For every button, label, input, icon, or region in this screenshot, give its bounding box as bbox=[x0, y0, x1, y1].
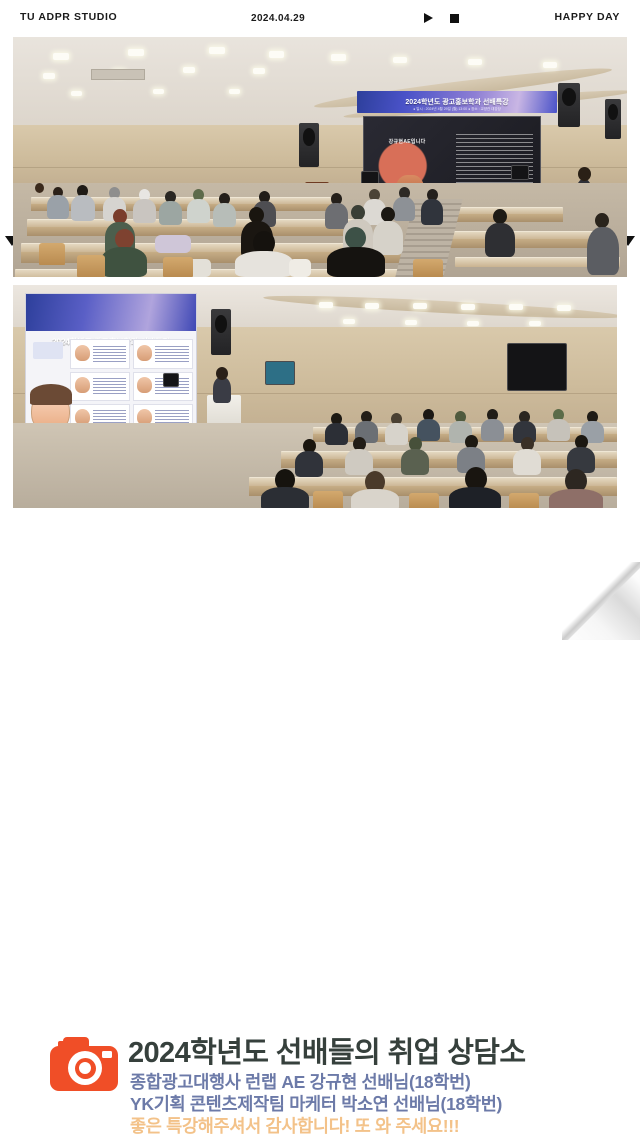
audience-head bbox=[351, 205, 365, 220]
wall-speaker bbox=[211, 309, 231, 355]
audience-head bbox=[381, 207, 395, 222]
wall-monitor bbox=[507, 343, 567, 391]
presenter-head bbox=[216, 367, 228, 380]
slide-header-band bbox=[26, 294, 196, 331]
audience-person bbox=[101, 247, 147, 277]
audience-person bbox=[345, 449, 373, 475]
wall-monitor bbox=[265, 361, 295, 385]
play-icon[interactable] bbox=[424, 13, 433, 23]
audience-person bbox=[327, 247, 385, 277]
ceiling-light bbox=[509, 304, 523, 310]
camera-flash bbox=[102, 1051, 112, 1058]
audience-head bbox=[345, 227, 366, 249]
audience-person bbox=[547, 419, 570, 441]
audience-person bbox=[187, 199, 210, 223]
wall-speaker bbox=[605, 99, 621, 139]
chair bbox=[509, 493, 539, 508]
ceiling-light bbox=[557, 305, 571, 311]
side-monitor bbox=[511, 165, 529, 180]
ceiling-light bbox=[183, 67, 195, 73]
ceiling-light bbox=[71, 91, 82, 96]
audience-person bbox=[213, 203, 236, 227]
ceiling-light bbox=[468, 59, 482, 65]
caption-line-3: 좋은 특강해주셔서 감사합니다! 또 와 주세요!!! bbox=[130, 1113, 459, 1138]
slide-screen: 2024학년도 광고홍보학과 선배특강 bbox=[25, 293, 197, 437]
ceiling-light bbox=[53, 53, 69, 60]
audience-person bbox=[385, 423, 408, 445]
chair bbox=[409, 493, 439, 508]
ceiling-vent bbox=[91, 69, 145, 80]
chair bbox=[39, 243, 65, 265]
slide-profile-cell bbox=[70, 339, 130, 368]
backpack bbox=[155, 235, 191, 253]
ceiling-light bbox=[343, 319, 355, 324]
ceiling-light bbox=[529, 321, 541, 326]
audience-person bbox=[449, 487, 501, 508]
ceiling-light bbox=[543, 62, 557, 68]
camera-lens-center bbox=[79, 1062, 91, 1074]
ceiling-light bbox=[331, 54, 346, 61]
chair bbox=[413, 259, 443, 277]
caption-title: 2024학년도 선배들의 취업 상담소 bbox=[128, 1029, 525, 1071]
audience-head bbox=[115, 229, 134, 249]
backpack bbox=[289, 259, 311, 277]
ceiling-light bbox=[253, 68, 265, 74]
audience-head bbox=[493, 209, 507, 224]
chair bbox=[163, 257, 193, 277]
audience-person bbox=[401, 449, 429, 475]
chair bbox=[313, 491, 343, 508]
audience-person bbox=[133, 199, 156, 223]
page-curl-corner bbox=[562, 562, 640, 640]
ceiling-light bbox=[405, 320, 417, 325]
caption-block: 2024학년도 선배들의 취업 상담소 종합광고대행사 런랩 AE 강규현 선배… bbox=[0, 508, 640, 640]
audience-person bbox=[485, 223, 515, 257]
ceiling-light bbox=[393, 57, 407, 63]
date-label: 2024.04.29 bbox=[251, 13, 305, 24]
audience-head bbox=[595, 213, 609, 228]
presenter bbox=[213, 377, 231, 403]
audience-person bbox=[587, 227, 619, 275]
ceiling-light bbox=[43, 73, 55, 79]
ceiling-light bbox=[319, 302, 333, 308]
ceiling-light bbox=[467, 321, 479, 326]
camera-icon bbox=[50, 1037, 118, 1091]
audience-person bbox=[481, 419, 504, 441]
banner-subtitle: ● 일시 : 2024년 4월 29일 (월) 13:00 ● 장소 : 교양관… bbox=[413, 107, 501, 112]
ceiling-light bbox=[413, 303, 427, 309]
ceiling-light bbox=[269, 51, 284, 58]
lecture-hall-audience-photo[interactable]: 2024학년도 광고홍보학과 선배특강 ● 일시 : 2024년 4월 29일 … bbox=[13, 37, 627, 277]
event-banner: 2024학년도 광고홍보학과 선배특강 ● 일시 : 2024년 4월 29일 … bbox=[357, 91, 557, 113]
wall-speaker bbox=[299, 123, 319, 167]
lecture-hall-presentation-photo[interactable]: 2024학년도 광고홍보학과 선배특강 bbox=[13, 285, 617, 508]
audience-person bbox=[421, 199, 443, 225]
desk-front bbox=[443, 239, 593, 248]
header-bar: TU ADPR STUDIO 2024.04.29 HAPPY DAY bbox=[0, 0, 640, 34]
audience-person bbox=[549, 489, 603, 508]
ceiling-light bbox=[153, 89, 164, 94]
ceiling-light bbox=[365, 303, 379, 309]
slide-side-label bbox=[33, 342, 64, 359]
chair bbox=[77, 255, 105, 277]
audience-person bbox=[295, 451, 323, 477]
studio-title: TU ADPR STUDIO bbox=[20, 11, 117, 23]
audience-person bbox=[261, 487, 309, 508]
audience-person bbox=[513, 449, 541, 475]
ceiling-light bbox=[229, 89, 240, 94]
audience-person bbox=[47, 195, 69, 219]
audience-person bbox=[235, 251, 293, 277]
stop-icon[interactable] bbox=[450, 14, 459, 23]
slide-profile-cell bbox=[133, 339, 193, 368]
wall-speaker bbox=[558, 83, 580, 127]
slide-profile-cell bbox=[70, 372, 130, 401]
audience-person bbox=[159, 201, 182, 225]
audience-person bbox=[417, 419, 440, 441]
happy-day-label: HAPPY DAY bbox=[554, 11, 620, 23]
ceiling-light bbox=[128, 49, 144, 56]
audience-head bbox=[35, 183, 44, 193]
banner-title: 2024학년도 광고홍보학과 선배특강 bbox=[405, 97, 508, 107]
projection-caption: 강규현AE입니다 bbox=[389, 138, 426, 145]
desk-front bbox=[27, 227, 357, 236]
ceiling-light bbox=[209, 47, 225, 54]
presenter-head bbox=[578, 167, 591, 181]
audience-person bbox=[325, 423, 348, 445]
audience-person bbox=[393, 197, 415, 221]
side-monitor bbox=[163, 373, 179, 387]
ceiling-light bbox=[461, 304, 475, 310]
audience-person bbox=[71, 195, 95, 221]
audience-person bbox=[351, 489, 399, 508]
